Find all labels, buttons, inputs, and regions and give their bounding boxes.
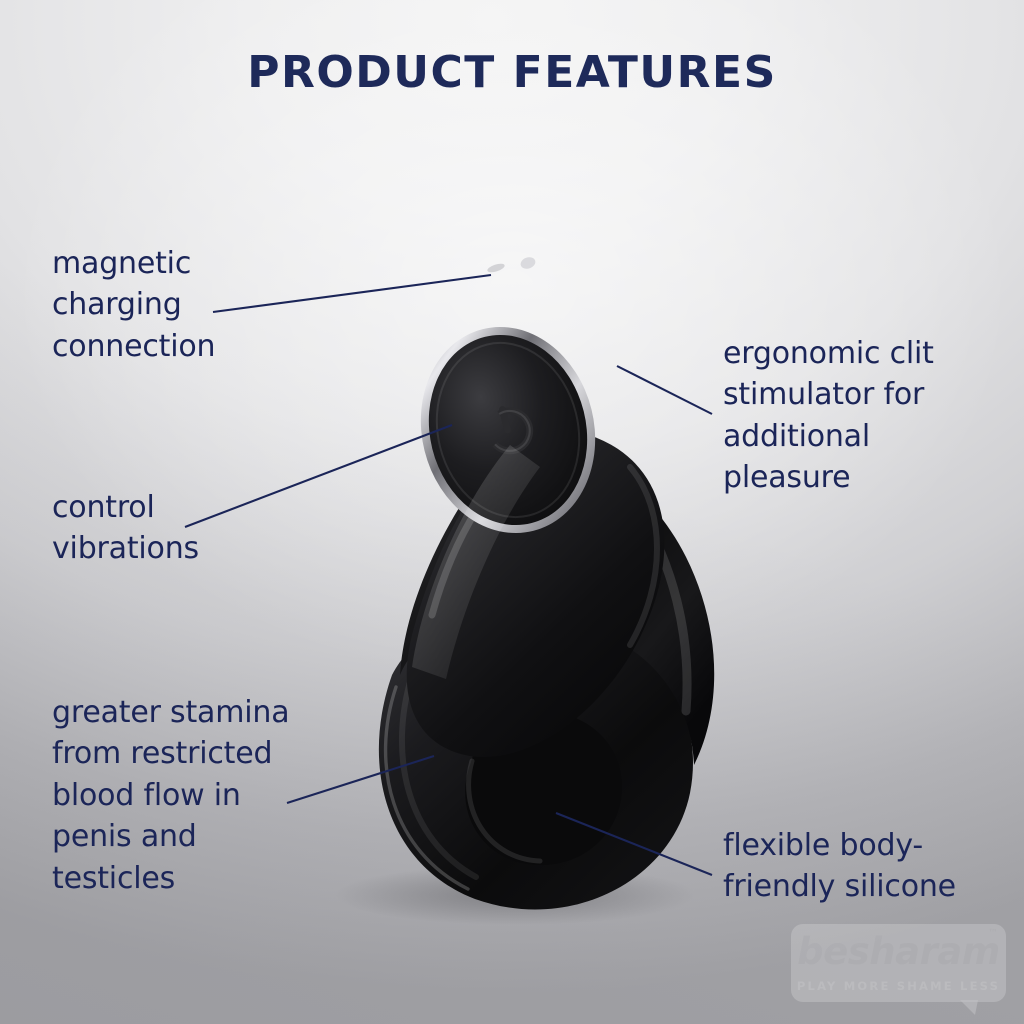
product-image xyxy=(300,205,770,925)
product-features-infographic: PRODUCT FEATURES xyxy=(0,0,1024,1024)
callout-ergonomic-clit-stimulator: ergonomic clit stimulator for additional… xyxy=(723,333,934,499)
callout-greater-stamina: greater stamina from restricted blood fl… xyxy=(52,692,289,899)
magnetic-charging-pins xyxy=(486,255,536,274)
callout-control-vibrations: control vibrations xyxy=(52,487,199,570)
besharam-logo-watermark: besharam ™ PLAY MORE SHAME LESS xyxy=(791,924,1006,1002)
logo-tagline: PLAY MORE SHAME LESS xyxy=(791,979,1006,993)
callout-magnetic-charging-connection: magnetic charging connection xyxy=(52,243,215,367)
page-title: PRODUCT FEATURES xyxy=(0,47,1024,98)
trademark-symbol: ™ xyxy=(988,928,998,939)
logo-wordmark: besharam xyxy=(791,930,1006,973)
callout-flexible-body-friendly-silicone: flexible body- friendly silicone xyxy=(723,825,956,908)
